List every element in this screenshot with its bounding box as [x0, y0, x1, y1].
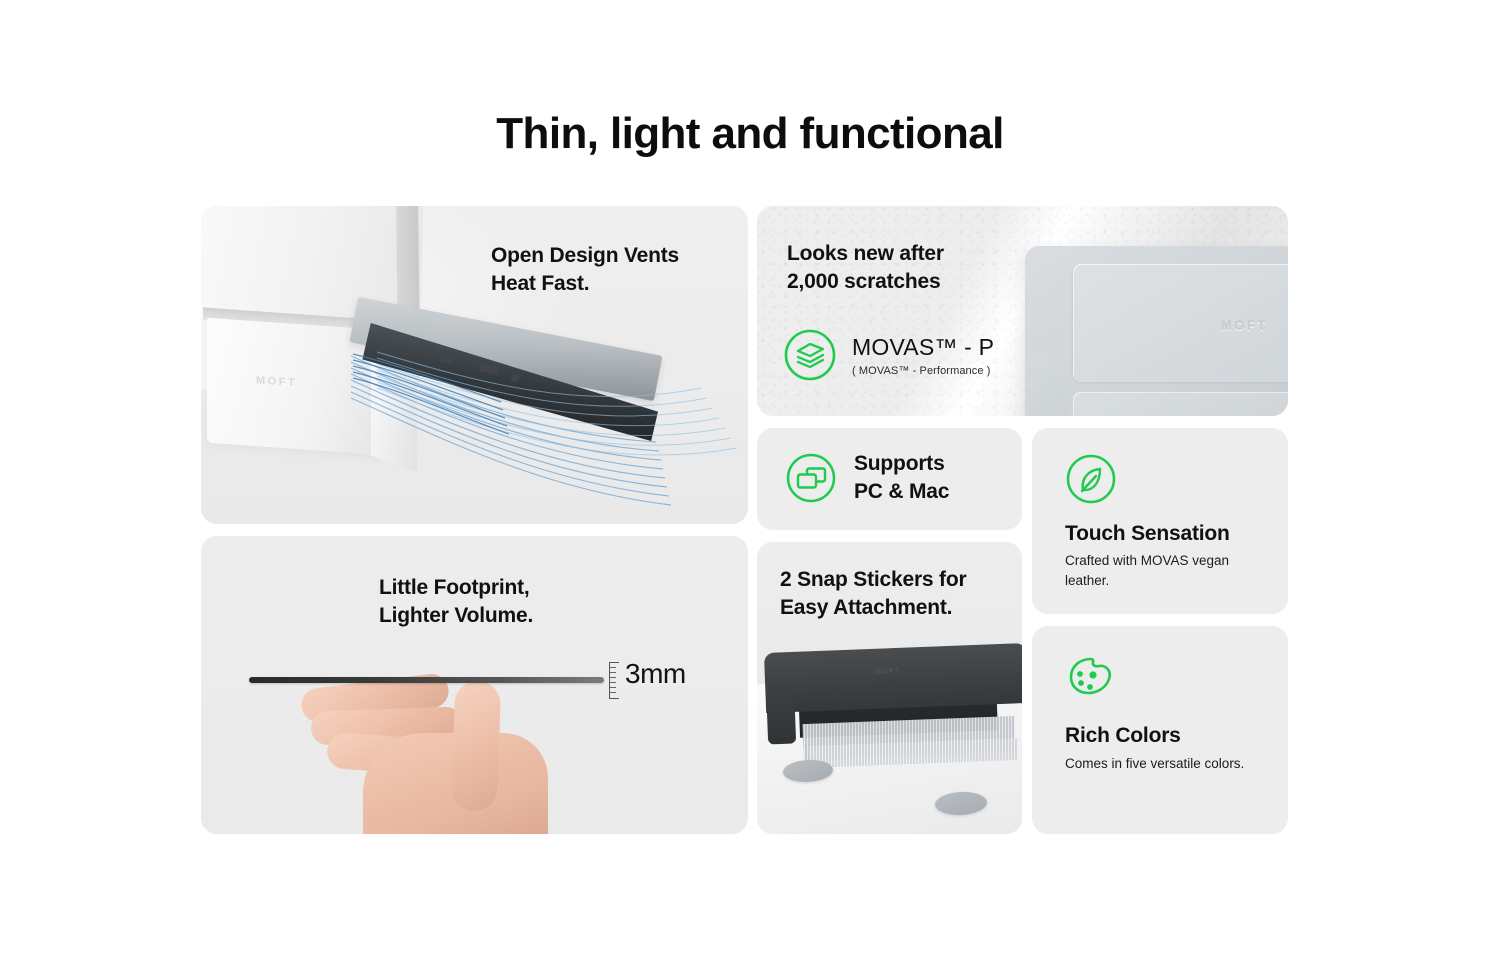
ruler-icon	[609, 662, 619, 699]
card-supports-pc-mac[interactable]: Supports PC & Mac	[757, 428, 1022, 530]
snap-heading: 2 Snap Stickers for Easy Attachment.	[780, 566, 966, 622]
touch-subtext: Crafted with MOVAS vegan leather.	[1065, 551, 1261, 590]
stand-riser-leg	[766, 681, 796, 744]
leaf-icon	[1064, 452, 1118, 506]
hand-illustration	[293, 681, 548, 834]
movas-title: MOVAS™ - P	[852, 334, 994, 361]
page-title: Thin, light and functional	[0, 109, 1500, 159]
folio-side-panel	[1031, 356, 1067, 416]
touch-heading: Touch Sensation	[1065, 520, 1230, 548]
thickness-label: 3mm	[625, 658, 686, 690]
movas-caption: ( MOVAS™ - Performance )	[852, 365, 994, 377]
movas-badge-text: MOVAS™ - P ( MOVAS™ - Performance )	[852, 334, 994, 377]
folio-bottom-panel	[1073, 392, 1288, 416]
support-content: Supports PC & Mac	[785, 450, 949, 506]
folio-moft-logo: MOFT	[1221, 318, 1268, 333]
vents-heading: Open Design Vents Heat Fast.	[491, 242, 679, 298]
hand-thumb	[451, 680, 502, 812]
product-thin-sheet	[249, 677, 604, 683]
card-snap-stickers[interactable]: MOFT 2 Snap Stickers for Easy Attachment…	[757, 542, 1022, 834]
support-heading: Supports PC & Mac	[854, 450, 949, 506]
card-little-footprint[interactable]: 3mm Little Footprint, Lighter Volume.	[201, 536, 748, 834]
palette-icon	[1064, 650, 1118, 704]
colors-subtext: Comes in five versatile colors.	[1065, 754, 1271, 774]
card-scratch-resistance[interactable]: MOFT Looks new after 2,000 scratches MOV…	[757, 206, 1288, 416]
feature-card-grid: MOFT	[201, 206, 1288, 834]
colors-heading: Rich Colors	[1065, 722, 1181, 750]
scratches-heading: Looks new after 2,000 scratches	[787, 240, 944, 296]
card-touch-sensation[interactable]: Touch Sensation Crafted with MOVAS vegan…	[1032, 428, 1288, 614]
card-rich-colors[interactable]: Rich Colors Comes in five versatile colo…	[1032, 626, 1288, 834]
devices-icon	[785, 452, 837, 504]
snap-emboss-logo: MOFT	[875, 667, 901, 675]
leather-texture-photo: MOFT	[757, 206, 1288, 416]
stand-riser-shape	[764, 643, 1022, 713]
layers-icon	[783, 328, 837, 382]
footprint-heading: Little Footprint, Lighter Volume.	[379, 574, 533, 630]
product-folio-shape: MOFT	[1025, 246, 1288, 416]
card-open-design-vents[interactable]: MOFT	[201, 206, 748, 524]
movas-badge[interactable]: MOVAS™ - P ( MOVAS™ - Performance )	[783, 328, 994, 382]
